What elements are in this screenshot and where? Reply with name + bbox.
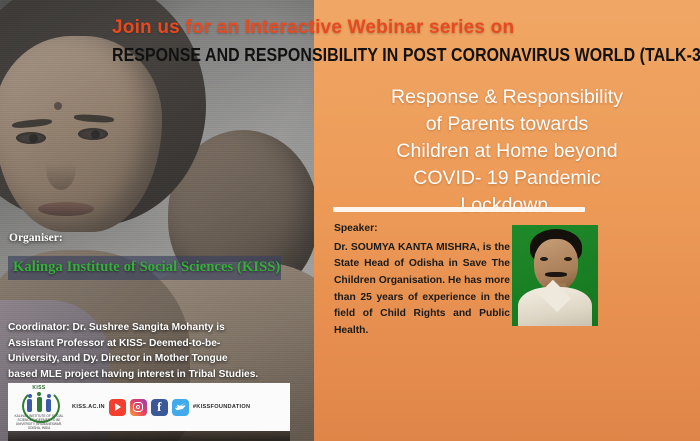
title-divider [333, 207, 585, 212]
website-label[interactable]: KISS.AC.IN [72, 404, 105, 410]
title-line-5: Lockdown. [322, 192, 692, 219]
speaker-bio: Dr. SOUMYA KANTA MISHRA, is the State He… [334, 240, 510, 340]
footer-shadow-strip [8, 431, 290, 441]
speaker-block: Speaker: Dr. SOUMYA KANTA MISHRA, is the… [334, 221, 510, 340]
coordinator-line-1: Coordinator: Dr. Sushree Sangita Mohanty… [8, 320, 282, 336]
figure-icon-2 [37, 397, 42, 412]
speaker-eye-right [564, 257, 572, 261]
coordinator-line-4: based MLE project having interest in Tri… [8, 367, 282, 383]
header-line-2: RESPONSE AND RESPONSIBILITY IN POST CORO… [112, 44, 611, 65]
kiss-logo: KISS KALINGA INSTITUTE OF SOCIAL SCIENCE… [8, 384, 70, 430]
coordinator-text: Coordinator: Dr. Sushree Sangita Mohanty… [8, 320, 282, 382]
poster-header: Join us for an Interactive Webinar serie… [112, 18, 692, 65]
title-line-3: Children at Home beyond [322, 138, 692, 165]
speaker-label: Speaker: [334, 221, 510, 238]
webinar-title: Response & Responsibility of Parents tow… [322, 84, 692, 219]
hashtag-label: #KISSFOUNDATION [193, 404, 251, 410]
coordinator-line-2: Assistant Professor at KISS- Deemed-to-b… [8, 336, 282, 352]
coordinator-line-3: University, and Dy. Director in Mother T… [8, 351, 282, 367]
webinar-poster: Join us for an Interactive Webinar serie… [0, 0, 700, 441]
figure-icon-1 [27, 399, 32, 412]
figure-icon-3 [46, 399, 51, 412]
header-line-1: Join us for an Interactive Webinar serie… [112, 18, 692, 39]
kiss-logo-ring-icon [22, 391, 56, 413]
title-line-1: Response & Responsibility [322, 84, 692, 111]
facebook-icon[interactable]: f [151, 399, 168, 416]
speaker-moustache [545, 272, 567, 277]
speaker-portrait-photo [512, 225, 598, 326]
title-line-4: COVID- 19 Pandemic [322, 165, 692, 192]
footer-bar: KISS KALINGA INSTITUTE OF SOCIAL SCIENCE… [8, 383, 290, 431]
youtube-icon[interactable] [109, 399, 126, 416]
organiser-name: Kalinga Institute of Social Sciences (KI… [13, 259, 280, 276]
instagram-icon[interactable] [130, 399, 147, 416]
speaker-eye-left [540, 257, 548, 261]
twitter-icon[interactable] [172, 399, 189, 416]
kiss-logo-figures-icon [27, 394, 51, 412]
organiser-label: Organiser: [9, 232, 63, 244]
title-line-2: of Parents towards [322, 111, 692, 138]
footer-social-row: KISS.AC.IN f #KISSFOUNDATION [72, 399, 250, 416]
